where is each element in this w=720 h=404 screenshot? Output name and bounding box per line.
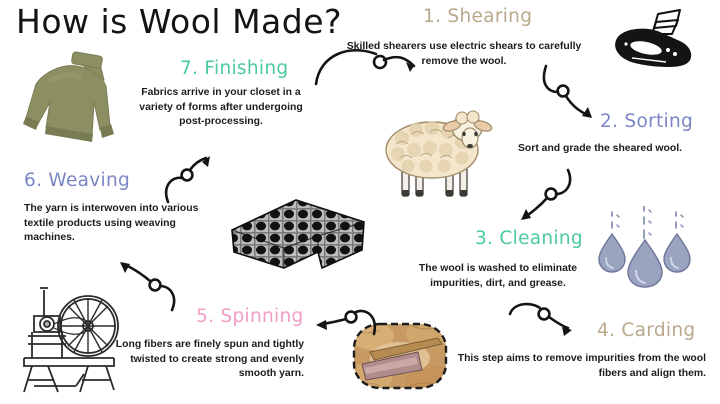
step-body-weaving: The yarn is interwoven into various text…: [24, 202, 224, 246]
arrow-sorting-to-cleaning: [512, 164, 580, 226]
woven-fabric-icon: [226, 196, 368, 278]
water-droplets-icon: [598, 206, 694, 288]
page-title: How is Wool Made?: [16, 2, 342, 41]
step-heading-sorting: 2. Sorting: [600, 111, 693, 132]
wool-infographic: How is Wool Made? 7. Finishing Fabrics a…: [0, 0, 720, 404]
step-heading-carding: 4. Carding: [597, 320, 695, 341]
step-heading-spinning: 5. Spinning: [196, 306, 304, 327]
sweater-icon: [14, 50, 126, 150]
arrow-shearing-to-sorting: [538, 62, 606, 124]
sheep-icon: [372, 100, 496, 204]
arrow-cleaning-to-carding: [506, 300, 578, 344]
step-body-carding: This step aims to remove impurities from…: [452, 352, 706, 381]
arrow-carding-to-spinning: [306, 306, 380, 342]
step-body-spinning: Long fibers are finely spun and tightly …: [104, 338, 304, 382]
step-body-finishing: Fabrics arrive in your closet in a varie…: [126, 86, 316, 130]
arrow-weaving-to-finishing: [158, 152, 218, 206]
arrow-spinning-to-weaving: [112, 258, 182, 316]
step-heading-shearing: 1. Shearing: [423, 6, 532, 27]
step-heading-weaving: 6. Weaving: [24, 170, 130, 191]
electric-shears-icon: [596, 8, 700, 70]
step-body-cleaning: The wool is washed to eliminate impuriti…: [400, 262, 596, 291]
spinning-wheel-icon: [14, 282, 126, 396]
step-body-sorting: Sort and grade the sheared wool.: [490, 142, 710, 157]
step-heading-finishing: 7. Finishing: [180, 58, 288, 79]
step-heading-cleaning: 3. Cleaning: [475, 228, 583, 249]
